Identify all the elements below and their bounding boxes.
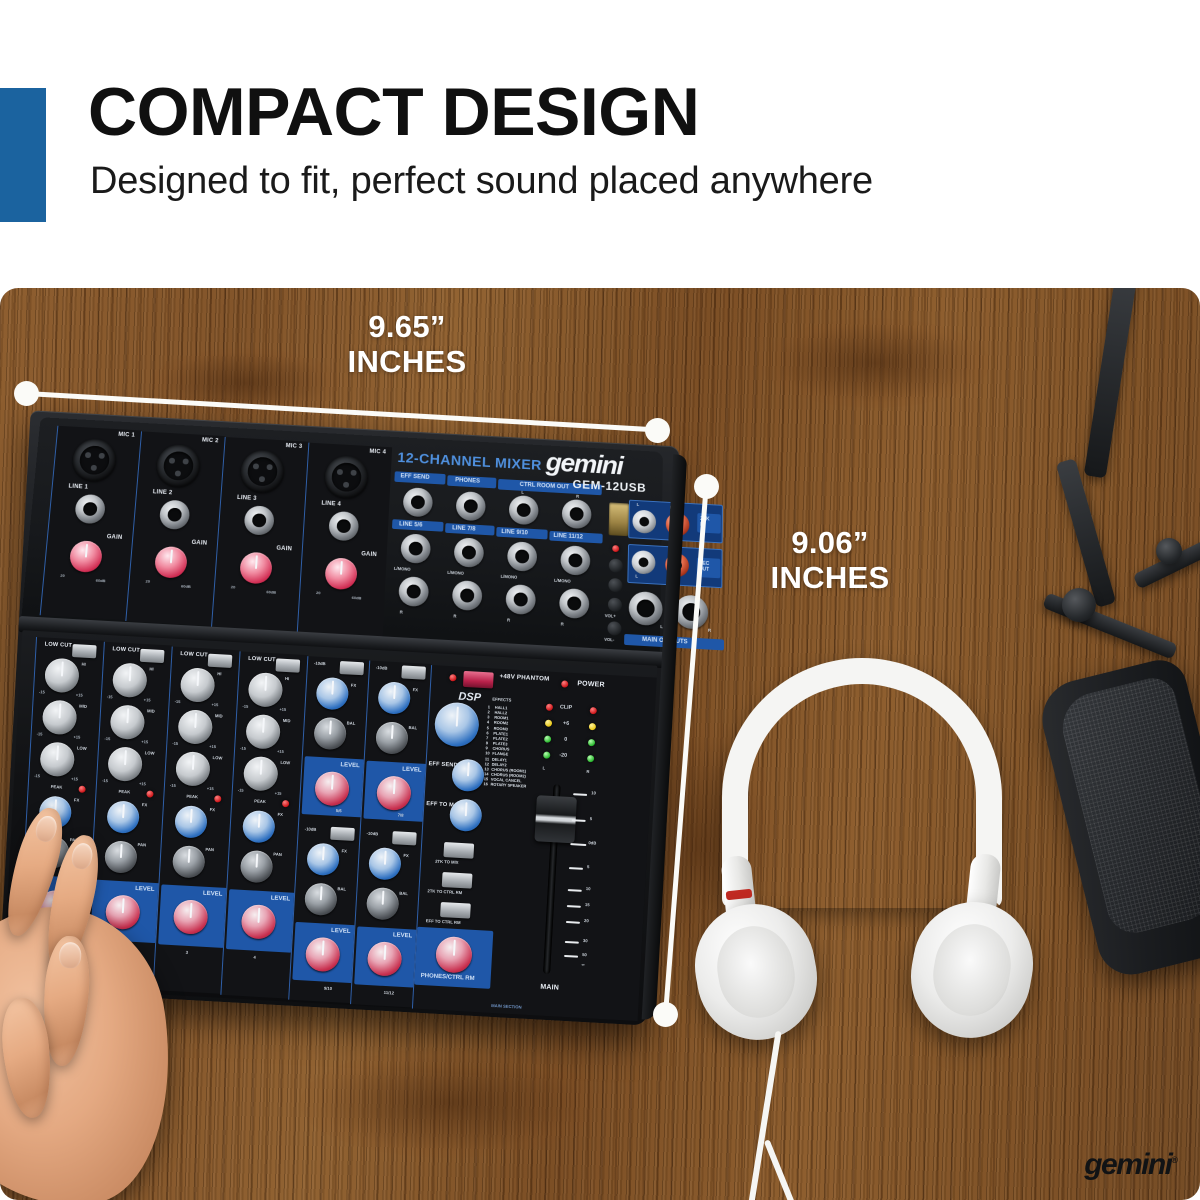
- gain-min-1: 20: [60, 573, 65, 578]
- xlr-connector-2[interactable]: [155, 444, 201, 488]
- xlr-connector-4[interactable]: [324, 455, 369, 499]
- mid-max-1: +15: [73, 734, 80, 739]
- line-78-lmono-label: L/MONO: [447, 570, 464, 576]
- ctrl-room-l-label: L: [521, 490, 524, 495]
- hi-label-4: HI: [285, 676, 289, 681]
- line-78-header: LINE 7/8: [445, 523, 495, 535]
- bal-label-1112: BAL: [399, 891, 408, 896]
- gain-knob-1[interactable]: [69, 540, 103, 573]
- mic-boom-arm-lower: [1056, 458, 1117, 608]
- bal-label-78: BAL: [408, 725, 417, 730]
- level-zone-78: LEVEL: [363, 761, 426, 822]
- eff-send-knob[interactable]: [451, 758, 485, 792]
- main-output-jack-r[interactable]: [674, 594, 708, 629]
- fader-scale-0db: 0dB: [588, 840, 596, 845]
- main-fader-label: MAIN: [540, 984, 559, 992]
- line-1-label: LINE 1: [68, 484, 88, 491]
- bal-knob-1112[interactable]: [366, 887, 400, 921]
- fx-label-1112: FX: [403, 853, 409, 858]
- fader-scale-10: 10: [591, 790, 596, 795]
- ctrl-room-out-label: CTRL ROOM OUT: [520, 482, 570, 490]
- dim-depth-unit: INCHES: [771, 560, 890, 595]
- meter-l-zero-led: [544, 735, 551, 742]
- line-78-r-label: R: [453, 614, 456, 619]
- usb-volume-up-button[interactable]: [608, 598, 622, 613]
- low-max-1: +15: [71, 776, 78, 781]
- gain-max-1: 60dB: [96, 578, 106, 583]
- level-zone-56: LEVEL: [302, 756, 365, 817]
- mid-eq-knob-1[interactable]: [42, 699, 78, 735]
- line-1112-lmono-label: L/MONO: [554, 578, 571, 584]
- mic-3-label: MIC 3: [286, 443, 303, 450]
- low-cut-label-4: LOW CUT: [248, 656, 276, 664]
- low-cut-label-1: LOW CUT: [44, 641, 72, 649]
- level-label-4: LEVEL: [271, 895, 291, 902]
- level-label-56: LEVEL: [340, 762, 360, 769]
- low-eq-knob-1[interactable]: [39, 741, 75, 777]
- dsp-effects-label: EFFECTS: [492, 697, 511, 703]
- mid-max-3: +15: [209, 744, 216, 749]
- pan-label-4: PAN: [273, 852, 282, 857]
- bal-knob-910[interactable]: [304, 882, 338, 916]
- usb-port[interactable]: [609, 502, 629, 536]
- input-strip-3: MIC 3 LINE 3 GAIN 20 60dB: [211, 437, 308, 632]
- fader-scale-m50: 50: [582, 952, 587, 957]
- main-out-r-label: R: [708, 628, 711, 633]
- fingernail: [58, 941, 82, 968]
- microphone-grille: [1055, 673, 1200, 938]
- line-jack-4[interactable]: [328, 511, 359, 542]
- rec-out-l-label: L: [635, 574, 638, 579]
- meter-r-clip-led: [590, 707, 597, 714]
- accent-bar: [0, 88, 46, 222]
- channel-number-1112: 11/12: [384, 990, 395, 996]
- input-strip-4: MIC 4 LINE 4 GAIN 20 60dB: [297, 443, 392, 638]
- level-zone-4: LEVEL: [226, 889, 295, 953]
- channel-number-56: 5/6: [336, 808, 342, 813]
- low-label-3: LOW: [212, 755, 222, 761]
- fx-knob-56[interactable]: [315, 677, 349, 711]
- mid-max-2: +15: [141, 739, 148, 744]
- line-78-label: LINE 7/8: [452, 525, 476, 532]
- level-knob-56[interactable]: [314, 771, 350, 807]
- mid-label-1: MID: [79, 703, 87, 708]
- line-56-label: LINE 5/6: [399, 521, 423, 528]
- meter-plus6-label: +6: [563, 721, 569, 727]
- line-2-label: LINE 2: [153, 489, 173, 496]
- meter-minus20-label: -20: [559, 752, 567, 758]
- fader-scale-m15: 15: [585, 902, 590, 907]
- headphone-cable: [764, 1139, 815, 1200]
- line-1112-jack-r[interactable]: [559, 588, 590, 619]
- fx-label-4: FX: [277, 812, 283, 817]
- hi-max-4: +15: [279, 707, 286, 712]
- pan-knob-4[interactable]: [240, 850, 274, 884]
- bal-knob-78[interactable]: [375, 721, 409, 755]
- fingernail: [33, 813, 59, 844]
- meter-l-label: L: [542, 765, 545, 770]
- level-zone-910: LEVEL: [292, 922, 355, 983]
- low-min-2: -15: [102, 778, 108, 783]
- product-photo: MIC 1 LINE 1 GAIN 20 60dB MIC 2: [0, 288, 1200, 1200]
- pad-button-910[interactable]: [330, 827, 355, 841]
- phones-ctrl-rm-zone: PHONES/CTRL RM: [414, 927, 493, 989]
- 2tk-to-ctrl-rm-button[interactable]: [442, 872, 473, 889]
- line-910-lmono-label: L/MONO: [501, 574, 518, 580]
- headphone-earpad-left: [711, 920, 802, 1024]
- level-knob-4[interactable]: [241, 904, 277, 940]
- bal-label-910: BAL: [337, 886, 346, 891]
- dim-depth-value: 9.06”: [791, 525, 868, 560]
- line-1112-jack-l[interactable]: [560, 545, 590, 576]
- hi-label-2: HI: [149, 666, 153, 671]
- eff-to-main-knob[interactable]: [449, 798, 483, 832]
- gain-knob-3[interactable]: [239, 552, 273, 585]
- line-jack-1[interactable]: [74, 494, 106, 525]
- 2tk-in-l-label: L: [637, 502, 640, 507]
- line-910-header: LINE 9/10: [496, 527, 547, 540]
- header-band: COMPACT DESIGN Designed to fit, perfect …: [0, 0, 1200, 280]
- line-jack-2[interactable]: [159, 499, 191, 530]
- product-title-silkscreen: 12-CHANNEL MIXER: [397, 450, 542, 473]
- mid-eq-knob-4[interactable]: [245, 714, 281, 750]
- power-label: POWER: [577, 680, 605, 689]
- mic-4-label: MIC 4: [369, 449, 386, 456]
- brand-logo-footer: gemini®: [1084, 1148, 1178, 1182]
- meter-r-zero-led: [588, 739, 595, 746]
- dsp-label: DSP: [458, 691, 481, 704]
- fx-label-56: FX: [351, 683, 357, 688]
- level-label-1112: LEVEL: [393, 932, 413, 939]
- page-subtitle: Designed to fit, perfect sound placed an…: [90, 160, 873, 203]
- fingernail: [70, 841, 95, 871]
- low-max-4: +15: [275, 791, 282, 796]
- line-jack-3[interactable]: [243, 505, 274, 536]
- eff-to-ctrl-rm-label: EFF TO CTRL RM: [426, 918, 461, 925]
- meter-l-plus6-led: [545, 720, 552, 727]
- meter-l-minus20-led: [543, 751, 550, 758]
- line-910-label: LINE 9/10: [501, 529, 528, 536]
- low-cut-button-1[interactable]: [72, 644, 97, 658]
- page-title: COMPACT DESIGN: [88, 78, 699, 146]
- headphone-earcup-left: [685, 895, 827, 1050]
- low-cut-button-3[interactable]: [208, 654, 233, 668]
- main-output-jack-l[interactable]: [628, 591, 662, 626]
- usb-vol-up-label: VOL+: [605, 613, 616, 619]
- pad-button-56[interactable]: [339, 661, 364, 675]
- phantom-label: +48V PHANTOM: [499, 673, 549, 683]
- level-label-910: LEVEL: [331, 928, 351, 935]
- channel-number-78: 7/8: [398, 812, 404, 817]
- eff-to-ctrl-rm-button[interactable]: [440, 902, 471, 919]
- meter-clip-label: CLIP: [560, 704, 573, 711]
- fx-knob-4[interactable]: [242, 810, 276, 844]
- low-max-2: +15: [139, 781, 146, 786]
- wood-grain-knot: [300, 1048, 600, 1158]
- hi-min-3: -15: [175, 699, 181, 704]
- mid-max-4: +15: [277, 749, 284, 754]
- dim-width-end-dot: [645, 418, 670, 443]
- hi-eq-knob-2[interactable]: [112, 662, 148, 698]
- hi-min-2: -15: [107, 694, 113, 699]
- peak-label-4: PEAK: [254, 798, 266, 804]
- peak-led-4: [282, 800, 289, 807]
- bal-label-56: BAL: [347, 720, 356, 725]
- fx-label-910: FX: [341, 848, 347, 853]
- meter-l-clip-led: [546, 704, 553, 711]
- low-cut-label-3: LOW CUT: [180, 651, 208, 659]
- 2tk-to-ctrl-rm-label: 2TK TO CTRL RM: [427, 888, 462, 895]
- line-56-r-label: R: [400, 610, 403, 615]
- eff-send-header: EFF SEND: [394, 471, 445, 484]
- line-56-lmono-label: L/MONO: [394, 566, 411, 572]
- mid-label-3: MID: [215, 713, 223, 718]
- dsp-select-knob[interactable]: [434, 701, 480, 747]
- fx-label-78: FX: [413, 687, 419, 692]
- line-78-jack-l[interactable]: [454, 537, 485, 568]
- line-78-jack-r[interactable]: [452, 580, 483, 611]
- gain-1-label: GAIN: [106, 534, 122, 541]
- wood-grain-knot: [760, 318, 990, 408]
- phones-ctrl-rm-label: PHONES/CTRL RM: [421, 973, 475, 982]
- meter-r-plus6-led: [589, 723, 596, 730]
- pad-label-910: -10dB: [305, 826, 317, 832]
- gain-min-3: 20: [231, 584, 236, 589]
- input-strip-2: MIC 2 LINE 2 GAIN 20 60dB: [125, 431, 224, 625]
- dim-width-value: 9.65”: [368, 309, 445, 344]
- mid-eq-knob-2[interactable]: [110, 704, 146, 740]
- low-eq-knob-3[interactable]: [175, 751, 211, 787]
- product-feature-page: COMPACT DESIGN Designed to fit, perfect …: [0, 0, 1200, 1200]
- dim-width-label: 9.65” INCHES: [262, 310, 552, 379]
- channel-number-4: 4: [253, 955, 256, 960]
- fader-scale-m10: 10: [586, 886, 591, 891]
- gain-max-4: 60dB: [352, 595, 362, 600]
- line-4-label: LINE 4: [321, 501, 341, 508]
- hi-max-2: +15: [144, 697, 151, 702]
- gain-4-label: GAIN: [361, 551, 377, 558]
- eff-send-label: EFF SEND: [400, 473, 429, 480]
- gain-3-label: GAIN: [276, 546, 292, 553]
- gain-max-2: 60dB: [181, 583, 191, 588]
- main-fader-handle[interactable]: [534, 795, 577, 843]
- mid-min-2: -15: [104, 736, 110, 741]
- usb-stop-button[interactable]: [608, 578, 622, 592]
- meter-r-minus20-led: [587, 755, 594, 762]
- phones-header: PHONES: [447, 475, 496, 488]
- hi-eq-knob-3[interactable]: [180, 667, 216, 703]
- hi-label-1: HI: [81, 662, 85, 667]
- pad-label-1112: -10dB: [366, 831, 378, 837]
- level-knob-78[interactable]: [376, 775, 412, 811]
- mid-min-3: -15: [172, 741, 178, 746]
- mid-min-4: -15: [240, 746, 246, 751]
- gain-knob-2[interactable]: [154, 546, 188, 579]
- dsp-effects-list: 1HALL1 2HALL2 3ROOM1 4ROOM2 5ROOM3 6PLAT…: [483, 704, 544, 789]
- phones-ctrl-rm-knob[interactable]: [435, 936, 473, 974]
- input-strip-1: MIC 1 LINE 1 GAIN 20 60dB: [40, 426, 141, 620]
- hand: [0, 788, 220, 1198]
- usb-vol-down-label: VOL-: [604, 637, 614, 643]
- ctrl-room-out-jack-r[interactable]: [562, 499, 592, 529]
- hi-eq-knob-1[interactable]: [44, 658, 80, 694]
- master-section: +48V PHANTOM POWER DSP EFFECTS 1HALL1 2H…: [412, 665, 657, 1021]
- channel-number-910: 9/10: [324, 986, 332, 991]
- mid-label-2: MID: [147, 708, 155, 713]
- gain-min-2: 20: [145, 579, 150, 584]
- brand-logo-device: gemini: [545, 447, 622, 481]
- dim-depth-label: 9.06” INCHES: [715, 526, 945, 595]
- mic-clamp-knob[interactable]: [1062, 588, 1096, 622]
- meter-zero-label: 0: [564, 737, 567, 743]
- fx-knob-1112[interactable]: [368, 847, 402, 881]
- dim-depth-end-dot: [653, 1002, 678, 1027]
- low-label-2: LOW: [145, 750, 155, 756]
- gain-2-label: GAIN: [191, 540, 207, 547]
- main-section-label: MAIN SECTION: [491, 1003, 522, 1010]
- line-1112-label: LINE 11/12: [553, 533, 583, 540]
- xlr-connector-1[interactable]: [71, 438, 118, 482]
- level-label-78: LEVEL: [402, 767, 422, 774]
- gain-min-4: 20: [316, 590, 321, 595]
- microphone-body: [1034, 654, 1200, 981]
- mid-eq-knob-3[interactable]: [177, 709, 213, 745]
- fader-scale-inf: ∞: [581, 962, 584, 967]
- ctrl-room-r-label: R: [576, 494, 579, 499]
- gain-knob-4[interactable]: [324, 557, 357, 590]
- meter-r-label: R: [586, 769, 589, 774]
- brand-logo-footer-text: gemini: [1084, 1148, 1171, 1181]
- fx-knob-910[interactable]: [306, 842, 340, 876]
- low-cut-label-2: LOW CUT: [112, 646, 140, 654]
- line-910-r-label: R: [507, 618, 510, 623]
- usb-status-led: [612, 545, 619, 552]
- fader-scale-5: 5: [590, 816, 593, 821]
- level-zone-1112: LEVEL: [354, 926, 417, 987]
- low-cut-button-2[interactable]: [140, 649, 165, 663]
- line-56-jack-r[interactable]: [398, 576, 429, 607]
- fader-scale-m5: 5: [587, 864, 590, 869]
- mic-boom-arm-upper: [1084, 288, 1139, 478]
- hi-max-3: +15: [211, 702, 218, 707]
- 2tk-to-mix-label: 2TK TO MIX: [435, 859, 459, 865]
- line-910-jack-r[interactable]: [505, 584, 536, 615]
- level-knob-1112[interactable]: [367, 941, 403, 977]
- low-label-1: LOW: [77, 745, 87, 751]
- low-eq-knob-2[interactable]: [107, 746, 143, 782]
- fx-knob-78[interactable]: [377, 681, 411, 715]
- mic-1-label: MIC 1: [118, 432, 135, 439]
- pad-button-1112[interactable]: [392, 831, 417, 845]
- line-56-header: LINE 5/6: [392, 519, 444, 532]
- mid-label-4: MID: [283, 718, 291, 723]
- low-eq-knob-4[interactable]: [243, 756, 279, 792]
- fader-scale-m20: 20: [584, 918, 589, 923]
- power-led: [561, 680, 568, 687]
- usb-volume-down-button[interactable]: [607, 621, 621, 636]
- mid-min-1: -15: [37, 731, 43, 736]
- low-label-4: LOW: [280, 760, 290, 766]
- microphone-assembly: [980, 288, 1200, 988]
- line-56-jack-l[interactable]: [400, 533, 431, 564]
- hi-label-3: HI: [217, 671, 221, 676]
- mic-joint-knob[interactable]: [1156, 538, 1182, 564]
- low-cut-button-4[interactable]: [276, 658, 301, 672]
- phantom-led: [449, 674, 456, 681]
- 2tk-to-mix-button[interactable]: [443, 842, 474, 859]
- pad-label-78: -10dB: [376, 665, 388, 671]
- phantom-power-switch[interactable]: [463, 671, 494, 689]
- usb-play-pause-button[interactable]: [609, 558, 623, 572]
- hi-eq-knob-4[interactable]: [248, 672, 284, 708]
- gain-max-3: 60dB: [266, 589, 276, 594]
- headphone-headband: [722, 658, 1002, 908]
- brand-registered-mark: ®: [1171, 1155, 1178, 1165]
- hi-min-1: -15: [39, 689, 45, 694]
- pad-label-56: -10dB: [314, 661, 326, 667]
- line-1112-header: LINE 11/12: [549, 531, 602, 544]
- line-1112-r-label: R: [561, 621, 564, 626]
- dim-width-unit: INCHES: [348, 344, 467, 379]
- eff-send-jack[interactable]: [402, 487, 433, 517]
- line-3-label: LINE 3: [237, 495, 257, 502]
- hi-min-4: -15: [242, 704, 248, 709]
- mic-2-label: MIC 2: [202, 438, 219, 445]
- line-910-jack-l[interactable]: [507, 541, 538, 572]
- pad-button-78[interactable]: [401, 665, 426, 679]
- bal-knob-56[interactable]: [313, 717, 347, 751]
- phones-jack[interactable]: [455, 491, 486, 521]
- ctrl-room-out-jack-l[interactable]: [508, 495, 538, 525]
- low-min-4: -15: [238, 787, 244, 792]
- phones-label: PHONES: [455, 478, 480, 485]
- xlr-connector-3[interactable]: [240, 449, 286, 493]
- level-knob-910[interactable]: [305, 937, 341, 973]
- low-min-1: -15: [34, 773, 40, 778]
- hi-max-1: +15: [76, 692, 83, 697]
- headphone-cable: [744, 1031, 781, 1200]
- fader-scale-m30: 30: [583, 938, 588, 943]
